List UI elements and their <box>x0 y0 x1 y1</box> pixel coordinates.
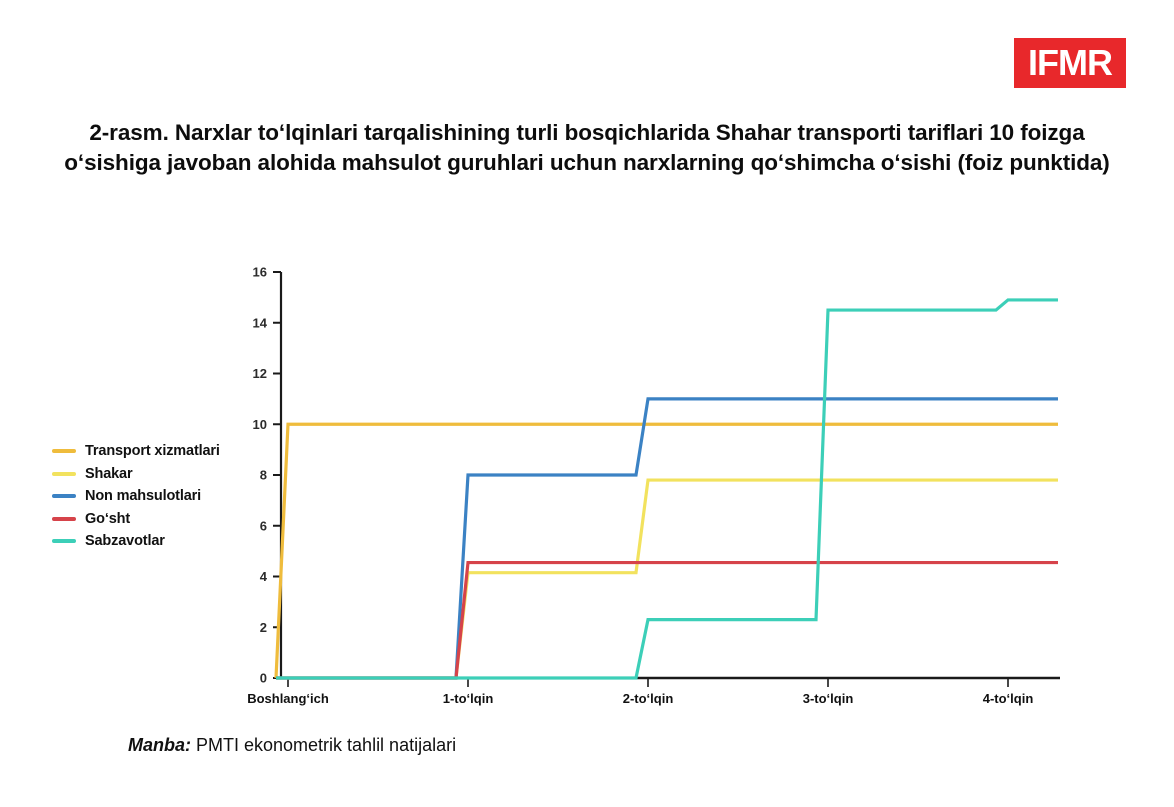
svg-text:3-to‘lqin: 3-to‘lqin <box>803 691 854 706</box>
legend-swatch-sabzavotlar <box>52 539 76 543</box>
svg-text:10: 10 <box>253 417 267 432</box>
svg-text:2-to‘lqin: 2-to‘lqin <box>623 691 674 706</box>
ifmr-logo: IFMR <box>1014 38 1126 88</box>
series-line-sabzavotlar <box>276 300 1058 678</box>
svg-text:Boshlang‘ich: Boshlang‘ich <box>247 691 329 706</box>
legend-label-shakar: Shakar <box>85 466 132 482</box>
legend-label-gosht: Go‘sht <box>85 511 130 527</box>
svg-text:4-to‘lqin: 4-to‘lqin <box>983 691 1034 706</box>
legend-label-transport-xizmatlari: Transport xizmatlari <box>85 443 220 459</box>
series-line-go-sht <box>276 563 1058 678</box>
legend-label-non-mahsulotlari: Non mahsulotlari <box>85 488 201 504</box>
legend-swatch-transport-xizmatlari <box>52 449 76 453</box>
chart-axes <box>281 272 1060 678</box>
source-text: PMTI ekonometrik tahlil natijalari <box>191 735 456 755</box>
legend-swatch-non-mahsulotlari <box>52 494 76 498</box>
source-label: Manba: <box>128 735 191 755</box>
svg-text:12: 12 <box>253 366 267 381</box>
svg-text:2: 2 <box>260 620 267 635</box>
svg-text:16: 16 <box>253 265 267 280</box>
legend-item: Sabzavotlar <box>52 530 262 553</box>
legend-item: Non mahsulotlari <box>52 485 262 508</box>
source-note: Manba: PMTI ekonometrik tahlil natijalar… <box>128 735 456 756</box>
legend-item: Go‘sht <box>52 508 262 531</box>
series-line-non-mahsulotlari <box>276 399 1058 678</box>
legend-item: Shakar <box>52 463 262 486</box>
series-line-shakar <box>276 480 1058 678</box>
chart-legend: Transport xizmatlari Shakar Non mahsulot… <box>52 440 262 553</box>
svg-text:14: 14 <box>253 315 268 330</box>
figure-title: 2-rasm. Narxlar to‘lqinlari tarqalishini… <box>40 118 1134 178</box>
chart-series <box>276 300 1058 678</box>
legend-item: Transport xizmatlari <box>52 440 262 463</box>
svg-text:4: 4 <box>260 569 268 584</box>
x-axis-categories: Boshlang‘ich1-to‘lqin2-to‘lqin3-to‘lqin4… <box>247 678 1033 706</box>
series-line-transport-xizmatlari <box>276 424 1058 678</box>
legend-swatch-shakar <box>52 472 76 476</box>
svg-text:1-to‘lqin: 1-to‘lqin <box>443 691 494 706</box>
ifmr-logo-text: IFMR <box>1028 45 1112 81</box>
legend-swatch-gosht <box>52 517 76 521</box>
legend-label-sabzavotlar: Sabzavotlar <box>85 533 165 549</box>
svg-text:0: 0 <box>260 671 267 686</box>
